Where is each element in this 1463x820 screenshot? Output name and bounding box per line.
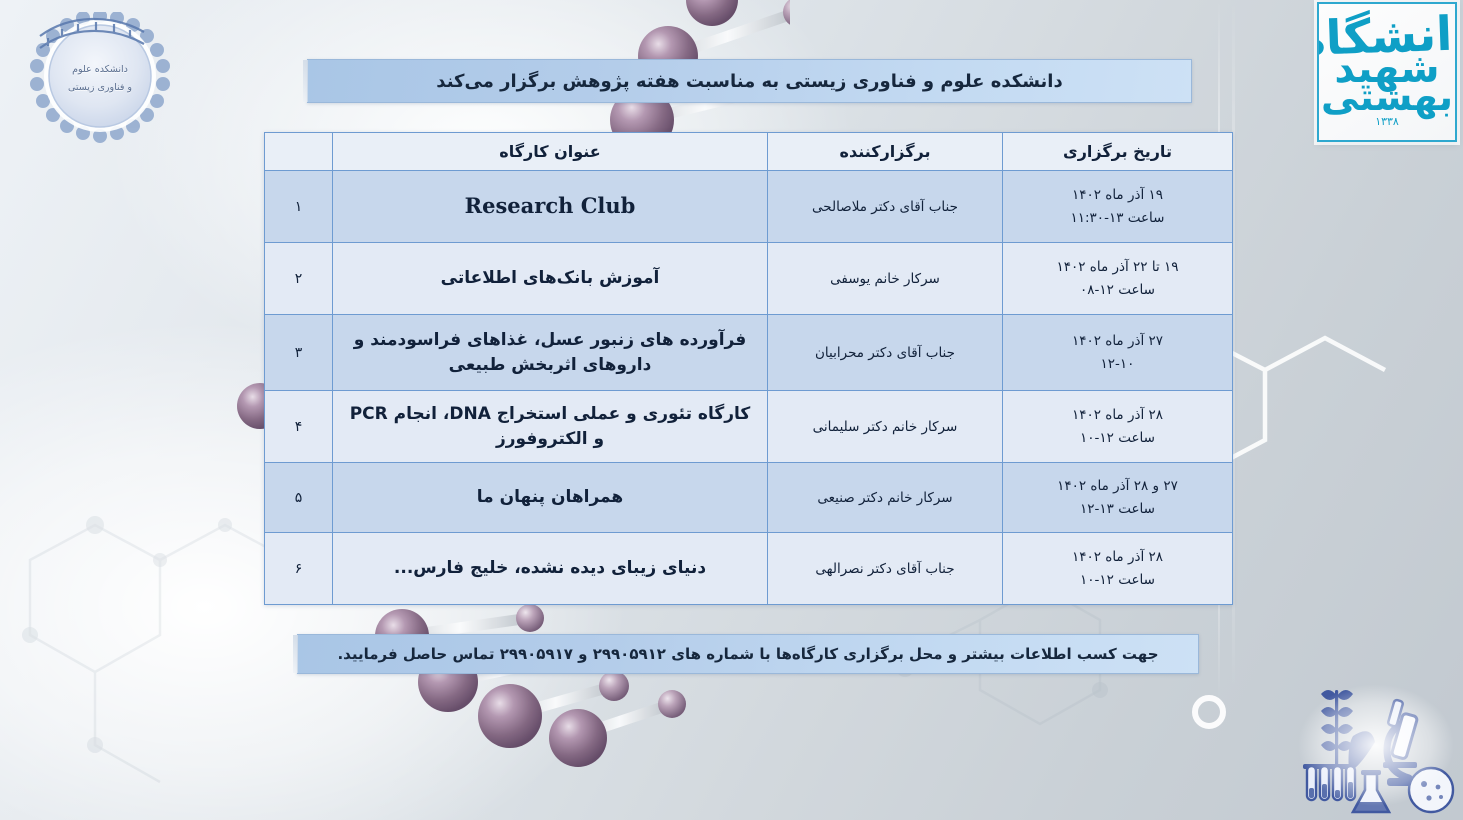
footer-banner-text: جهت کسب اطلاعات بیشتر و محل برگزاری کارگ… [337,645,1158,663]
cell-organizer: جناب آقای دکتر محرابیان [768,315,1003,391]
logo-glow [1291,678,1461,818]
cell-date: ۲۷ و ۲۸ آذر ماه ۱۴۰۲ ساعت ۱۳-۱۲ [1003,463,1233,533]
table-row: ۲۸ آذر ماه ۱۴۰۲ ساعت ۱۲-۱۰ جناب آقای دکت… [265,533,1233,605]
date-line-1: ۲۸ آذر ماه ۱۴۰۲ [1072,407,1163,423]
table-row: ۲۷ و ۲۸ آذر ماه ۱۴۰۲ ساعت ۱۳-۱۲ سرکار خا… [265,463,1233,533]
cell-row-number: ۱ [265,171,333,243]
date-line-1: ۲۷ و ۲۸ آذر ماه ۱۴۰۲ [1057,478,1178,494]
footer-contact-banner: جهت کسب اطلاعات بیشتر و محل برگزاری کارگ… [297,634,1199,674]
date-line-1: ۲۷ آذر ماه ۱۴۰۲ [1072,333,1163,349]
date-line-1: ۱۹ تا ۲۲ آذر ماه ۱۴۰۲ [1056,259,1178,275]
table-row: ۲۷ آذر ماه ۱۴۰۲ ۱۲-۱۰ جناب آقای دکتر محر… [265,315,1233,391]
cell-organizer: سرکار خانم دکتر صنیعی [768,463,1003,533]
cell-row-number: ۳ [265,315,333,391]
cell-workshop-title: کارگاه تئوری و عملی استخراج DNA، انجام P… [333,391,768,463]
date-line-1: ۱۹ آذر ماه ۱۴۰۲ [1072,187,1163,203]
university-logo-year: ۱۳۳۸ [1375,117,1399,126]
cell-workshop-title: دنیای زیبای دیده نشده، خلیج فارس... [333,533,768,605]
date-line-1: ۲۸ آذر ماه ۱۴۰۲ [1072,549,1163,565]
university-logo-line-3: بهشتی [1321,82,1453,113]
cell-date: ۱۹ تا ۲۲ آذر ماه ۱۴۰۲ ساعت ۱۲-۰۸ [1003,243,1233,315]
table-row: ۱۹ تا ۲۲ آذر ماه ۱۴۰۲ ساعت ۱۲-۰۸ سرکار خ… [265,243,1233,315]
date-line-2: ساعت ۱۲-۱۰ [1011,569,1224,592]
column-header-organizer: برگزارکننده [768,133,1003,171]
date-line-2: ساعت ۱۲-۰۸ [1011,279,1224,302]
table-row: ۲۸ آذر ماه ۱۴۰۲ ساعت ۱۲-۱۰ سرکار خانم دک… [265,391,1233,463]
cell-row-number: ۶ [265,533,333,605]
cell-row-number: ۵ [265,463,333,533]
workshop-table: تاریخ برگزاری برگزارکننده عنوان کارگاه ۱… [264,132,1233,605]
university-logo-calligraphy: دانشگاه شهید بهشتی ۱۳۳۸ [1319,4,1455,140]
cell-workshop-title: همراهان پنهان ما [333,463,768,533]
cell-date: ۲۸ آذر ماه ۱۴۰۲ ساعت ۱۲-۱۰ [1003,533,1233,605]
ring-decoration [1192,695,1226,729]
column-header-date: تاریخ برگزاری [1003,133,1233,171]
faculty-seal-logo: دانشکده علوم و فناوری زیستی [14,12,186,144]
cell-organizer: سرکار خانم یوسفی [768,243,1003,315]
table-header: تاریخ برگزاری برگزارکننده عنوان کارگاه [265,133,1233,171]
cell-row-number: ۲ [265,243,333,315]
cell-workshop-title: Research Club [333,171,768,243]
cell-date: ۱۹ آذر ماه ۱۴۰۲ ساعت ۱۳-۱۱:۳۰ [1003,171,1233,243]
date-line-2: ۱۲-۱۰ [1011,353,1224,376]
science-illustration-logo [1291,678,1461,818]
university-logo: دانشگاه شهید بهشتی ۱۳۳۸ [1317,2,1457,142]
date-line-2: ساعت ۱۲-۱۰ [1011,427,1224,450]
date-line-2: ساعت ۱۳-۱۲ [1011,498,1224,521]
cell-date: ۲۷ آذر ماه ۱۴۰۲ ۱۲-۱۰ [1003,315,1233,391]
cell-organizer: جناب آقای دکتر ملاصالحی [768,171,1003,243]
column-header-number [265,133,333,171]
cell-organizer: سرکار خانم دکتر سلیمانی [768,391,1003,463]
cell-workshop-title: آموزش بانک‌های اطلاعاتی [333,243,768,315]
cell-workshop-title: فرآورده های زنبور عسل، غذاهای فراسودمند … [333,315,768,391]
table-row: ۱۹ آذر ماه ۱۴۰۲ ساعت ۱۳-۱۱:۳۰ جناب آقای … [265,171,1233,243]
date-line-2: ساعت ۱۳-۱۱:۳۰ [1011,207,1224,230]
header-banner-text: دانشکده علوم و فناوری زیستی به مناسبت هف… [436,71,1062,92]
table-header-row: تاریخ برگزاری برگزارکننده عنوان کارگاه [265,133,1233,171]
seal-badge-shape [14,12,186,144]
cell-row-number: ۴ [265,391,333,463]
cell-organizer: جناب آقای دکتر نصرالهی [768,533,1003,605]
university-logo-line-1: دانشگاه [1317,15,1457,60]
column-header-title: عنوان کارگاه [333,133,768,171]
table-body: ۱۹ آذر ماه ۱۴۰۲ ساعت ۱۳-۱۱:۳۰ جناب آقای … [265,171,1233,605]
cell-date: ۲۸ آذر ماه ۱۴۰۲ ساعت ۱۲-۱۰ [1003,391,1233,463]
workshop-table-container: تاریخ برگزاری برگزارکننده عنوان کارگاه ۱… [265,132,1233,605]
header-banner: دانشکده علوم و فناوری زیستی به مناسبت هف… [307,59,1192,103]
